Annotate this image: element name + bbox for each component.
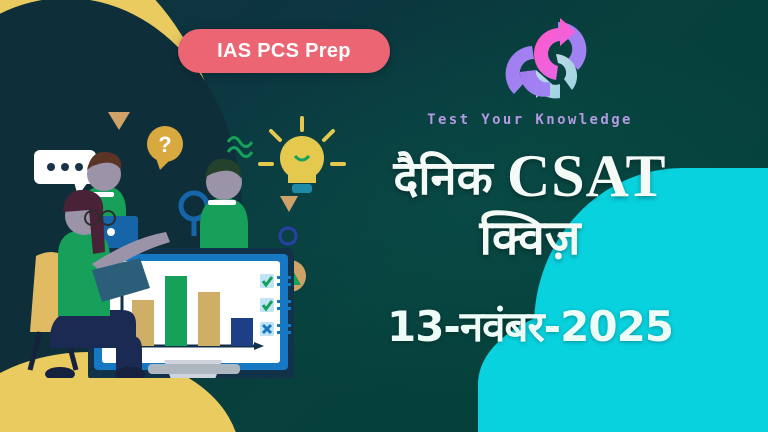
page-title-line2: क्विज़ — [324, 208, 736, 268]
badge-label: IAS PCS Prep — [217, 40, 351, 63]
chat-bubble-icon — [34, 150, 96, 196]
title-english-word: CSAT — [507, 143, 667, 209]
date-label: 13-नवंबर-2025 — [330, 297, 730, 354]
tagline: Test Your Knowledge — [396, 112, 664, 128]
svg-text:?: ? — [158, 132, 171, 157]
triangle-icon — [280, 196, 298, 212]
squiggle-icon — [228, 148, 252, 157]
chart-bar — [198, 292, 220, 346]
poster-canvas: ? — [0, 0, 768, 432]
recycle-arrows-logo — [492, 6, 600, 110]
triangle-icon — [108, 112, 130, 130]
person-back-right — [200, 159, 248, 252]
ias-pcs-prep-badge[interactable]: IAS PCS Prep — [178, 29, 390, 73]
page-title-line1: दैनिक CSAT — [324, 146, 736, 206]
chart-bar — [165, 276, 187, 346]
students-data-analysis-illustration: ? — [22, 108, 352, 378]
ring-icon — [280, 228, 296, 244]
question-bubble-icon: ? — [147, 126, 183, 170]
chart-bar — [231, 318, 253, 346]
title-hindi-word: दैनिक — [393, 151, 492, 206]
squiggle-icon — [228, 138, 252, 147]
